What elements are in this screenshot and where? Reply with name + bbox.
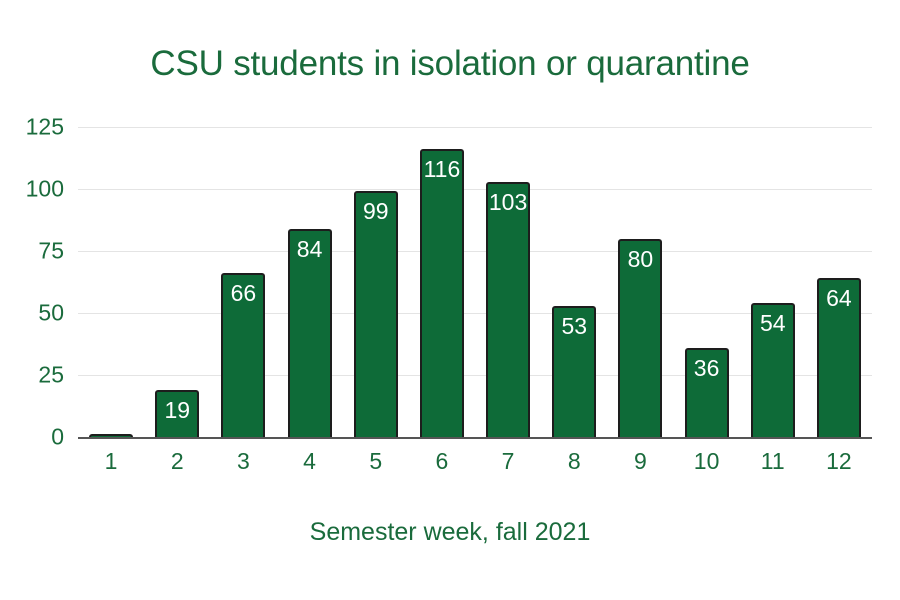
bar-value-label: 36: [687, 357, 727, 380]
bar[interactable]: 103: [486, 182, 530, 437]
bar[interactable]: 54: [751, 303, 795, 437]
bar-slot: 192: [155, 127, 199, 437]
bar-slot: 1037: [486, 127, 530, 437]
bar[interactable]: 53: [552, 306, 596, 437]
x-axis-tick-label: 4: [288, 450, 332, 473]
bar-slot: 3610: [685, 127, 729, 437]
bar[interactable]: 80: [618, 239, 662, 437]
x-axis-title: Semester week, fall 2021: [0, 518, 900, 547]
bar-slot: 5411: [751, 127, 795, 437]
bar[interactable]: 116: [420, 149, 464, 437]
x-axis-tick-label: 7: [486, 450, 530, 473]
y-axis-tick-label: 25: [38, 364, 64, 387]
bar-value-label: 116: [422, 158, 462, 181]
bar-value-label: 54: [753, 312, 793, 335]
bar-slot: 1166: [420, 127, 464, 437]
x-axis-tick-label: 11: [751, 450, 795, 473]
bar[interactable]: 66: [221, 273, 265, 437]
bar-value-label: 84: [290, 238, 330, 261]
y-axis-tick-label: 0: [51, 426, 64, 449]
axis-baseline: [78, 437, 872, 439]
x-axis-tick-label: 12: [817, 450, 861, 473]
bar[interactable]: 99: [354, 191, 398, 437]
chart-title: CSU students in isolation or quarantine: [0, 44, 900, 84]
bar-value-label: 103: [488, 191, 528, 214]
x-axis-tick-label: 6: [420, 450, 464, 473]
x-axis-tick-label: 1: [89, 450, 133, 473]
x-axis-tick-label: 9: [618, 450, 662, 473]
y-axis-tick-label: 75: [38, 240, 64, 263]
x-axis-tick-label: 2: [155, 450, 199, 473]
plot-area: 0255075100125 11926638449951166103753880…: [78, 127, 872, 437]
x-axis-tick-label: 10: [685, 450, 729, 473]
bar[interactable]: 84: [288, 229, 332, 437]
x-axis-tick-label: 8: [552, 450, 596, 473]
y-axis-tick-label: 50: [38, 302, 64, 325]
bar-chart: CSU students in isolation or quarantine …: [0, 0, 900, 600]
bar[interactable]: 36: [685, 348, 729, 437]
bar-slot: 663: [221, 127, 265, 437]
bar-value-label: 99: [356, 200, 396, 223]
bar[interactable]: [89, 434, 133, 437]
bars-group: 119266384499511661037538809361054116412: [78, 127, 872, 437]
bar-value-label: 53: [554, 315, 594, 338]
bar-slot: 995: [354, 127, 398, 437]
y-axis-tick-label: 100: [26, 178, 64, 201]
y-axis-tick-label: 125: [26, 116, 64, 139]
bar-slot: 809: [618, 127, 662, 437]
bar-value-label: 80: [620, 248, 660, 271]
bar-value-label: 19: [157, 399, 197, 422]
bar[interactable]: 19: [155, 390, 199, 437]
bar-slot: 538: [552, 127, 596, 437]
x-axis-tick-label: 5: [354, 450, 398, 473]
x-axis-tick-label: 3: [221, 450, 265, 473]
bar-slot: 844: [288, 127, 332, 437]
bar[interactable]: 64: [817, 278, 861, 437]
bar-value-label: 66: [223, 282, 263, 305]
bar-slot: 1: [89, 127, 133, 437]
bar-value-label: 64: [819, 287, 859, 310]
bar-slot: 6412: [817, 127, 861, 437]
